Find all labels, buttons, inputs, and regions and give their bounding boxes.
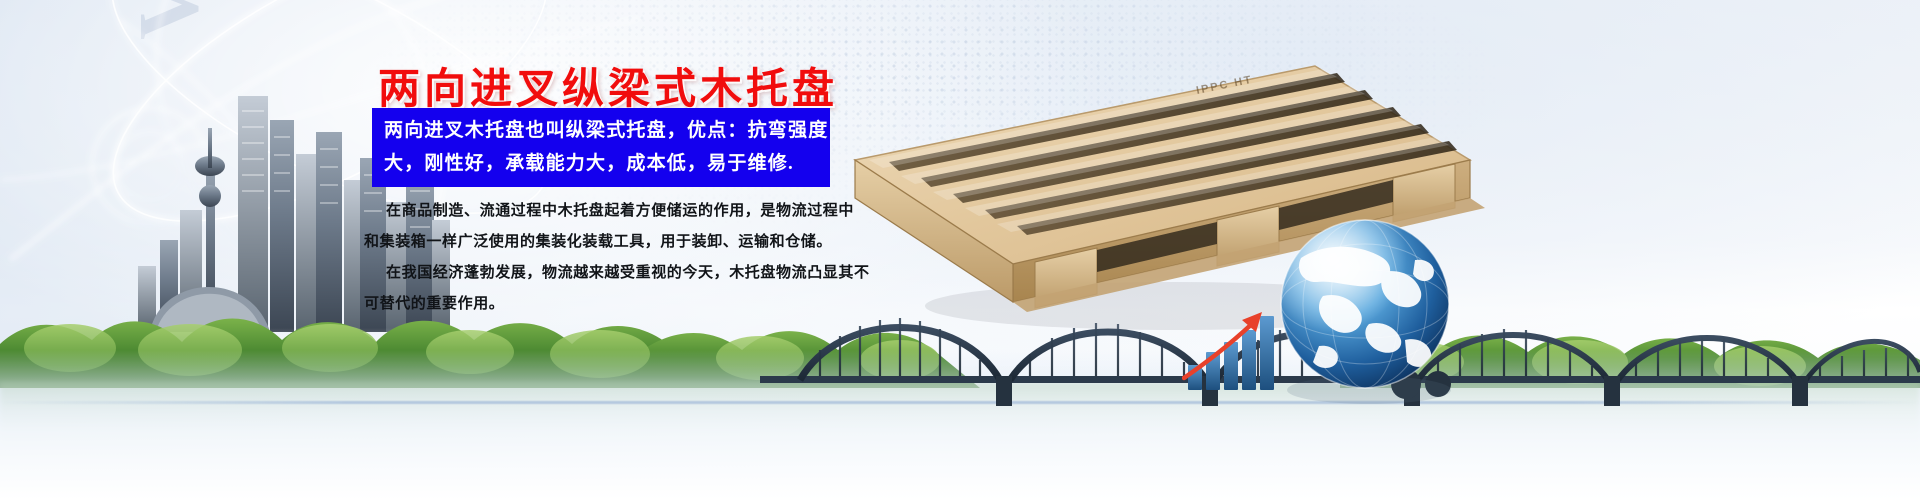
paragraph-line-3: 在我国经济蓬勃发展，物流越来越受重视的今天，木托盘物流凸显其不 <box>364 258 864 289</box>
promo-banner: VIII VII VI <box>0 0 1920 500</box>
paragraph-line-1: 在商品制造、流通过程中木托盘起着方便储运的作用，是物流过程中 <box>364 196 864 227</box>
description-paragraph: 在商品制造、流通过程中木托盘起着方便储运的作用，是物流过程中 和集装箱一样广泛使… <box>364 196 864 320</box>
page-title: 两向进叉纵梁式木托盘 <box>378 55 838 116</box>
highlight-line-1: 两向进叉木托盘也叫纵梁式托盘，优点：抗弯强度 <box>384 114 820 147</box>
highlight-callout: 两向进叉木托盘也叫纵梁式托盘，优点：抗弯强度 大，刚性好，承载能力大，成本低，易… <box>372 108 830 187</box>
paragraph-line-2: 和集装箱一样广泛使用的集装化装载工具，用于装卸、运输和仓储。 <box>364 227 864 258</box>
highlight-line-2: 大，刚性好，承载能力大，成本低，易于维修. <box>384 147 820 180</box>
paragraph-line-4: 可替代的重要作用。 <box>364 289 864 320</box>
earth-globe-image <box>1265 200 1475 410</box>
